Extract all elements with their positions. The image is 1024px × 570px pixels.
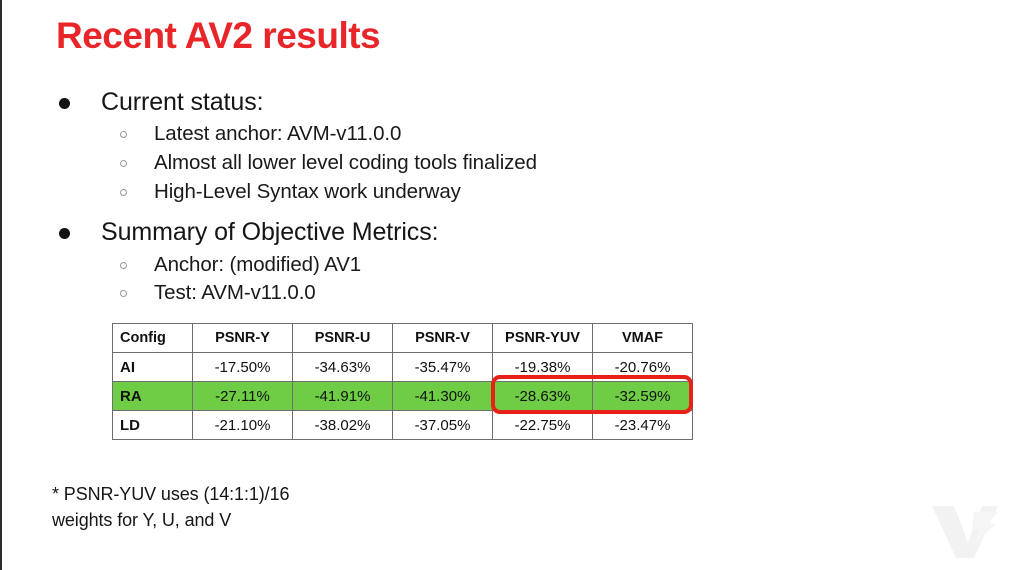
cell-psnr-yuv: -22.75% [493, 411, 593, 440]
cell-psnr-v: -41.30% [393, 382, 493, 411]
cell-config: LD [113, 411, 193, 440]
bullet-level2-label: High-Level Syntax work underway [154, 180, 461, 203]
cell-psnr-yuv: -19.38% [493, 353, 593, 382]
bullet-circle-icon [120, 290, 127, 297]
metrics-table: Config PSNR-Y PSNR-U PSNR-V PSNR-YUV VMA… [112, 323, 693, 440]
bullet-circle-icon [120, 160, 127, 167]
bullet-circle-icon [120, 131, 127, 138]
cell-psnr-u: -38.02% [293, 411, 393, 440]
column-header-psnr-y: PSNR-Y [193, 324, 293, 353]
bullet-level2-anchor: Anchor: (modified) AV1 [54, 251, 714, 280]
bullet-level2-label: Latest anchor: AVM-v11.0.0 [154, 122, 401, 145]
verge-v-logo-icon [928, 498, 1002, 560]
cell-psnr-u: -34.63% [293, 353, 393, 382]
table-header: Config PSNR-Y PSNR-U PSNR-V PSNR-YUV VMA… [113, 324, 693, 353]
bullet-level1-summary-metrics: Summary of Objective Metrics: [54, 216, 714, 249]
footnote-line-1: * PSNR-YUV uses (14:1:1)/16 [52, 481, 289, 507]
bullet-level1-label: Summary of Objective Metrics: [101, 218, 438, 246]
table-row: AI -17.50% -34.63% -35.47% -19.38% -20.7… [113, 353, 693, 382]
cell-psnr-y: -27.11% [193, 382, 293, 411]
table-row: LD -21.10% -38.02% -37.05% -22.75% -23.4… [113, 411, 693, 440]
bullet-level2-label: Almost all lower level coding tools fina… [154, 151, 537, 174]
footnote-line-2: weights for Y, U, and V [52, 507, 289, 533]
table-body: AI -17.50% -34.63% -35.47% -19.38% -20.7… [113, 353, 693, 440]
footnote: * PSNR-YUV uses (14:1:1)/16 weights for … [52, 481, 289, 533]
bullet-level1-current-status: Current status: [54, 86, 714, 119]
bullet-disc-icon [59, 98, 70, 109]
cell-config: RA [113, 382, 193, 411]
column-header-vmaf: VMAF [593, 324, 693, 353]
bullet-level2-tools-finalized: Almost all lower level coding tools fina… [54, 149, 714, 178]
bullet-level2-test: Test: AVM-v11.0.0 [54, 279, 714, 308]
table-header-row: Config PSNR-Y PSNR-U PSNR-V PSNR-YUV VMA… [113, 324, 693, 353]
cell-vmaf: -23.47% [593, 411, 693, 440]
cell-config: AI [113, 353, 193, 382]
bullet-level1-label: Current status: [101, 88, 263, 116]
column-header-psnr-v: PSNR-V [393, 324, 493, 353]
bullet-level2-latest-anchor: Latest anchor: AVM-v11.0.0 [54, 120, 714, 149]
bullet-list: Current status: Latest anchor: AVM-v11.0… [54, 86, 714, 308]
bullet-level2-label: Anchor: (modified) AV1 [154, 253, 361, 276]
page-title: Recent AV2 results [56, 14, 380, 58]
cell-psnr-y: -17.50% [193, 353, 293, 382]
cell-psnr-v: -35.47% [393, 353, 493, 382]
column-header-psnr-u: PSNR-U [293, 324, 393, 353]
cell-psnr-v: -37.05% [393, 411, 493, 440]
presentation-slide: Recent AV2 results Current status: Lates… [0, 0, 1024, 570]
bullet-circle-icon [120, 189, 127, 196]
column-header-psnr-yuv: PSNR-YUV [493, 324, 593, 353]
table-row-highlighted: RA -27.11% -41.91% -41.30% -28.63% -32.5… [113, 382, 693, 411]
cell-psnr-y: -21.10% [193, 411, 293, 440]
cell-psnr-u: -41.91% [293, 382, 393, 411]
metrics-table-container: Config PSNR-Y PSNR-U PSNR-V PSNR-YUV VMA… [112, 323, 693, 440]
column-header-config: Config [113, 324, 193, 353]
cell-vmaf: -32.59% [593, 382, 693, 411]
bullet-group-spacer [54, 206, 714, 216]
cell-psnr-yuv: -28.63% [493, 382, 593, 411]
cell-vmaf: -20.76% [593, 353, 693, 382]
bullet-level2-label: Test: AVM-v11.0.0 [154, 281, 316, 304]
bullet-disc-icon [59, 228, 70, 239]
bullet-circle-icon [120, 262, 127, 269]
bullet-level2-hls-underway: High-Level Syntax work underway [54, 178, 714, 207]
